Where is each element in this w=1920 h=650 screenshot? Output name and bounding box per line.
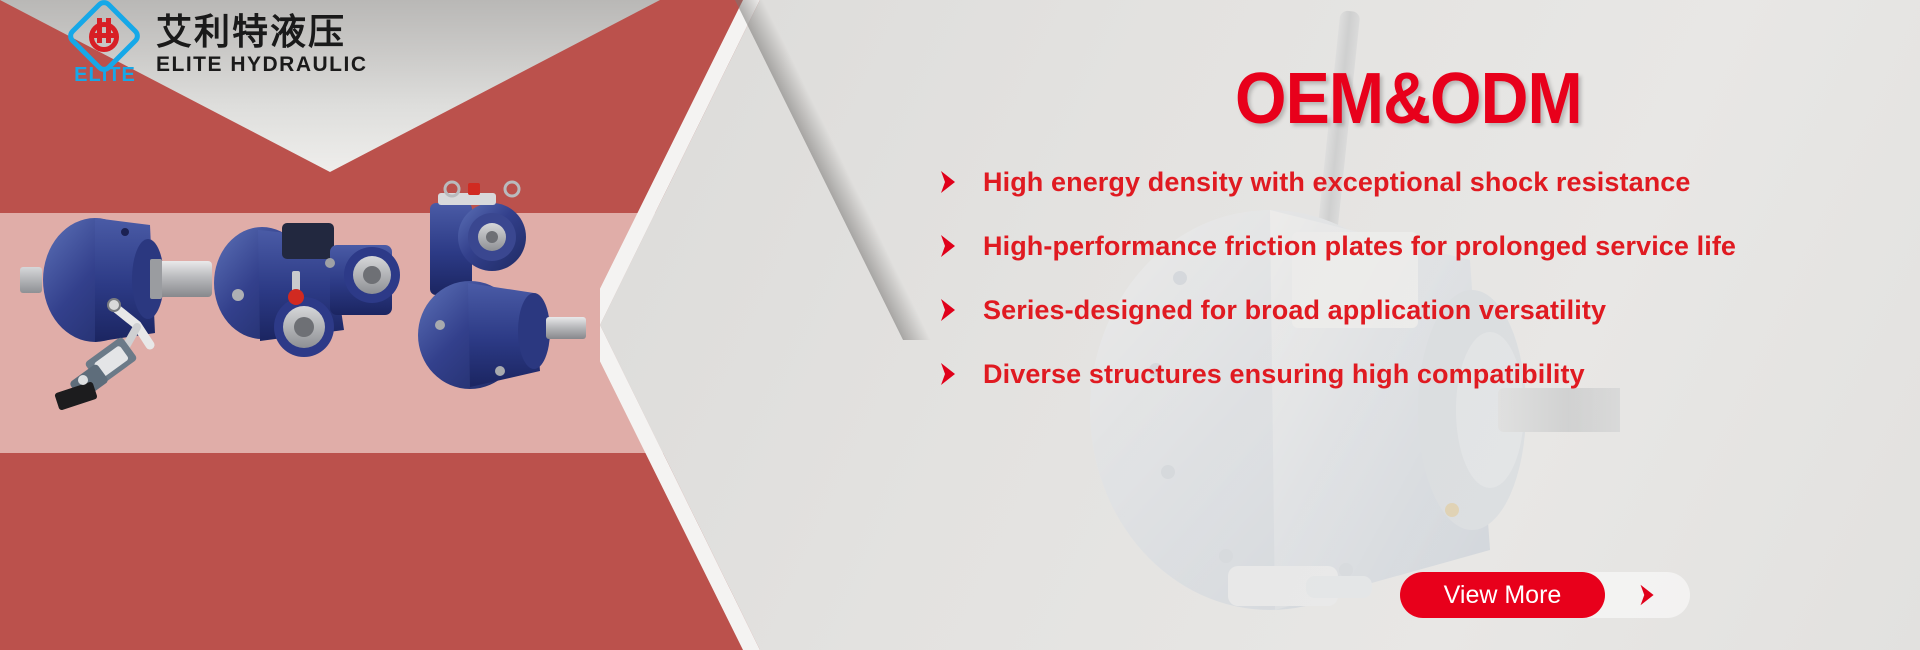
feature-text: Diverse structures ensuring high compati… — [983, 359, 1585, 390]
list-item: High energy density with exceptional sho… — [935, 150, 1895, 214]
cta-container: View More — [1400, 572, 1690, 618]
logo-mark-label: ELITE — [68, 64, 142, 87]
view-more-button[interactable]: View More — [1400, 572, 1605, 618]
list-item: Diverse structures ensuring high compati… — [935, 342, 1895, 406]
brand-logo[interactable]: ELITE 艾利特液压 ELITE HYDRAULIC — [68, 6, 368, 92]
product-1 — [20, 218, 212, 411]
chevron-right-icon — [935, 295, 983, 325]
chevron-right-icon — [935, 167, 983, 197]
feature-text: High energy density with exceptional sho… — [983, 167, 1691, 198]
product-photo-group — [0, 175, 620, 465]
promo-banner: ELITE 艾利特液压 ELITE HYDRAULIC — [0, 0, 1920, 650]
product-3 — [418, 182, 586, 389]
list-item: Series-designed for broad application ve… — [935, 278, 1895, 342]
chevron-right-icon — [935, 231, 983, 261]
chevron-right-icon[interactable] — [1605, 581, 1690, 609]
elite-diamond-logo-icon: ELITE — [68, 6, 142, 92]
brand-name-cn: 艾利特液压 — [156, 13, 368, 51]
list-item: High-performance friction plates for pro… — [935, 214, 1895, 278]
feature-text: Series-designed for broad application ve… — [983, 295, 1606, 326]
page-title: OEM&ODM — [1235, 58, 1582, 140]
feature-text: High-performance friction plates for pro… — [983, 231, 1736, 262]
chevron-right-icon — [935, 359, 983, 389]
feature-list: High energy density with exceptional sho… — [935, 150, 1895, 406]
product-2 — [214, 223, 400, 357]
brand-name-en: ELITE HYDRAULIC — [156, 53, 368, 77]
